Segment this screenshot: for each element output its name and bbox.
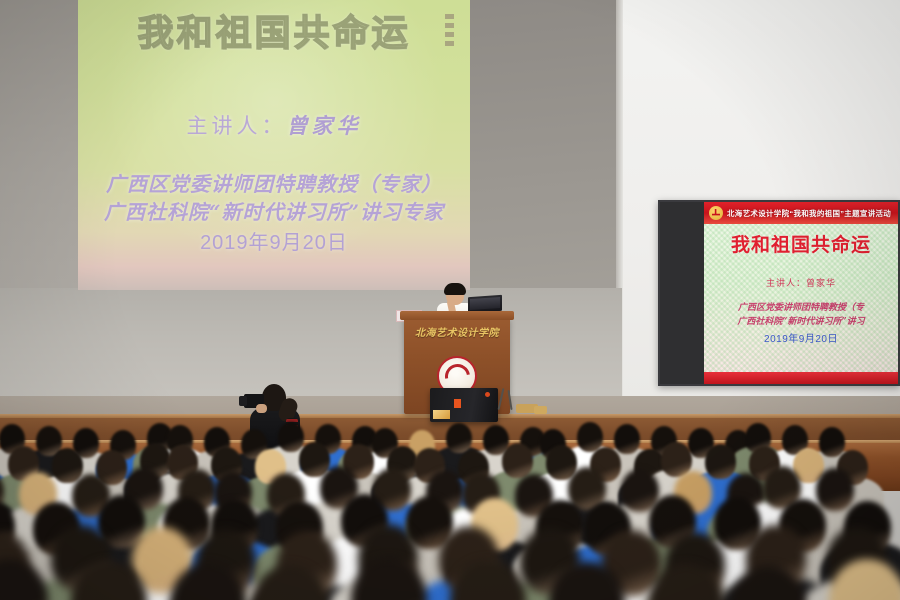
led-banner-text: 北海艺术设计学院“我和我的祖国”主题宣讲活动	[727, 208, 891, 219]
speaker-hair	[444, 283, 466, 295]
led-speaker-row: 主讲人：曾家华	[704, 276, 898, 289]
audience-head	[502, 443, 533, 478]
slide-credential-1: 广西区党委讲师团特聘教授（专家）	[78, 168, 470, 197]
slide-date: 2019年9月20日	[78, 226, 470, 255]
slide-speaker-row: 主讲人：曾家华	[78, 110, 470, 140]
audience-head	[819, 427, 845, 457]
stage-cables	[500, 388, 570, 420]
slide-title: 我和祖国共命运	[78, 4, 470, 56]
slide-speaker-name: 曾家华	[287, 113, 362, 138]
lecture-hall-photo: 我和祖国共命运 主讲人：曾家华 广西区党委讲师团特聘教授（专家） 广西社科院“新…	[0, 0, 900, 600]
led-content-area: 北海艺术设计学院“我和我的祖国”主题宣讲活动 我和祖国共命运 主讲人：曾家华 广…	[704, 202, 898, 384]
audience-head	[705, 444, 736, 479]
photographer-hand	[256, 404, 267, 413]
stage-monitor-speaker	[430, 388, 498, 422]
led-slide-date: 2019年9月20日	[704, 330, 898, 345]
led-side-screen: 北海艺术设计学院“我和我的祖国”主题宣讲活动 我和祖国共命运 主讲人：曾家华 广…	[658, 200, 900, 386]
led-letterbox	[660, 202, 704, 384]
audience-head	[446, 423, 472, 453]
audience-crowd	[0, 420, 900, 600]
led-banner: 北海艺术设计学院“我和我的祖国”主题宣讲活动	[704, 202, 898, 224]
podium-inscription: 北海艺术设计学院	[404, 324, 510, 339]
led-credential-2: 广西社科院“新时代讲习所”讲习	[704, 314, 898, 327]
projection-screen: 我和祖国共命运 主讲人：曾家华 广西区党委讲师团特聘教授（专家） 广西社科院“新…	[78, 0, 470, 290]
audience-head	[278, 422, 304, 452]
podium-top-surface	[400, 311, 514, 320]
led-slide-body: 我和祖国共命运 主讲人：曾家华 广西区党委讲师团特聘教授（专 广西社科院“新时代…	[704, 224, 898, 372]
lower-wall-shadow	[0, 288, 622, 400]
slide-speaker-label: 主讲人：	[187, 115, 287, 138]
led-speaker-name: 曾家华	[806, 278, 836, 288]
monitor-label-tag	[433, 410, 450, 419]
slide-credential-2: 广西社科院“新时代讲习所”讲习专家	[78, 196, 470, 225]
audience-head	[614, 424, 640, 454]
audience-head	[816, 468, 854, 511]
led-slide-title: 我和祖国共命运	[704, 230, 898, 257]
led-speaker-label: 主讲人：	[766, 278, 806, 288]
party-emblem-icon	[709, 206, 723, 220]
led-credential-1: 广西区党委讲师团特聘教授（专	[704, 300, 898, 313]
led-footer-band	[704, 372, 898, 384]
